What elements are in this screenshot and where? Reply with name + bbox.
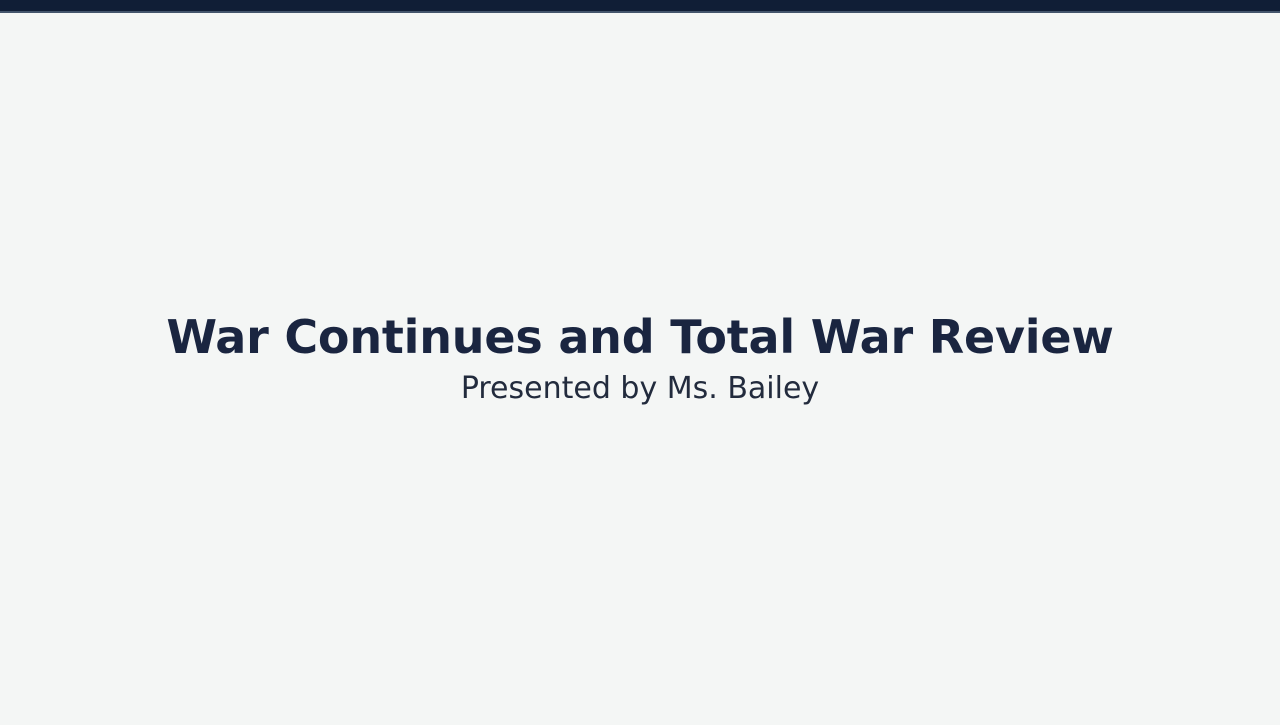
slide-title-block: War Continues and Total War Review Prese… (0, 313, 1280, 407)
slide-canvas[interactable]: War Continues and Total War Review Prese… (0, 13, 1280, 725)
slide-title: War Continues and Total War Review (0, 313, 1280, 363)
window-chrome-bar (0, 0, 1280, 13)
presentation-viewer: War Continues and Total War Review Prese… (0, 0, 1280, 725)
slide-subtitle: Presented by Ms. Bailey (0, 371, 1280, 407)
